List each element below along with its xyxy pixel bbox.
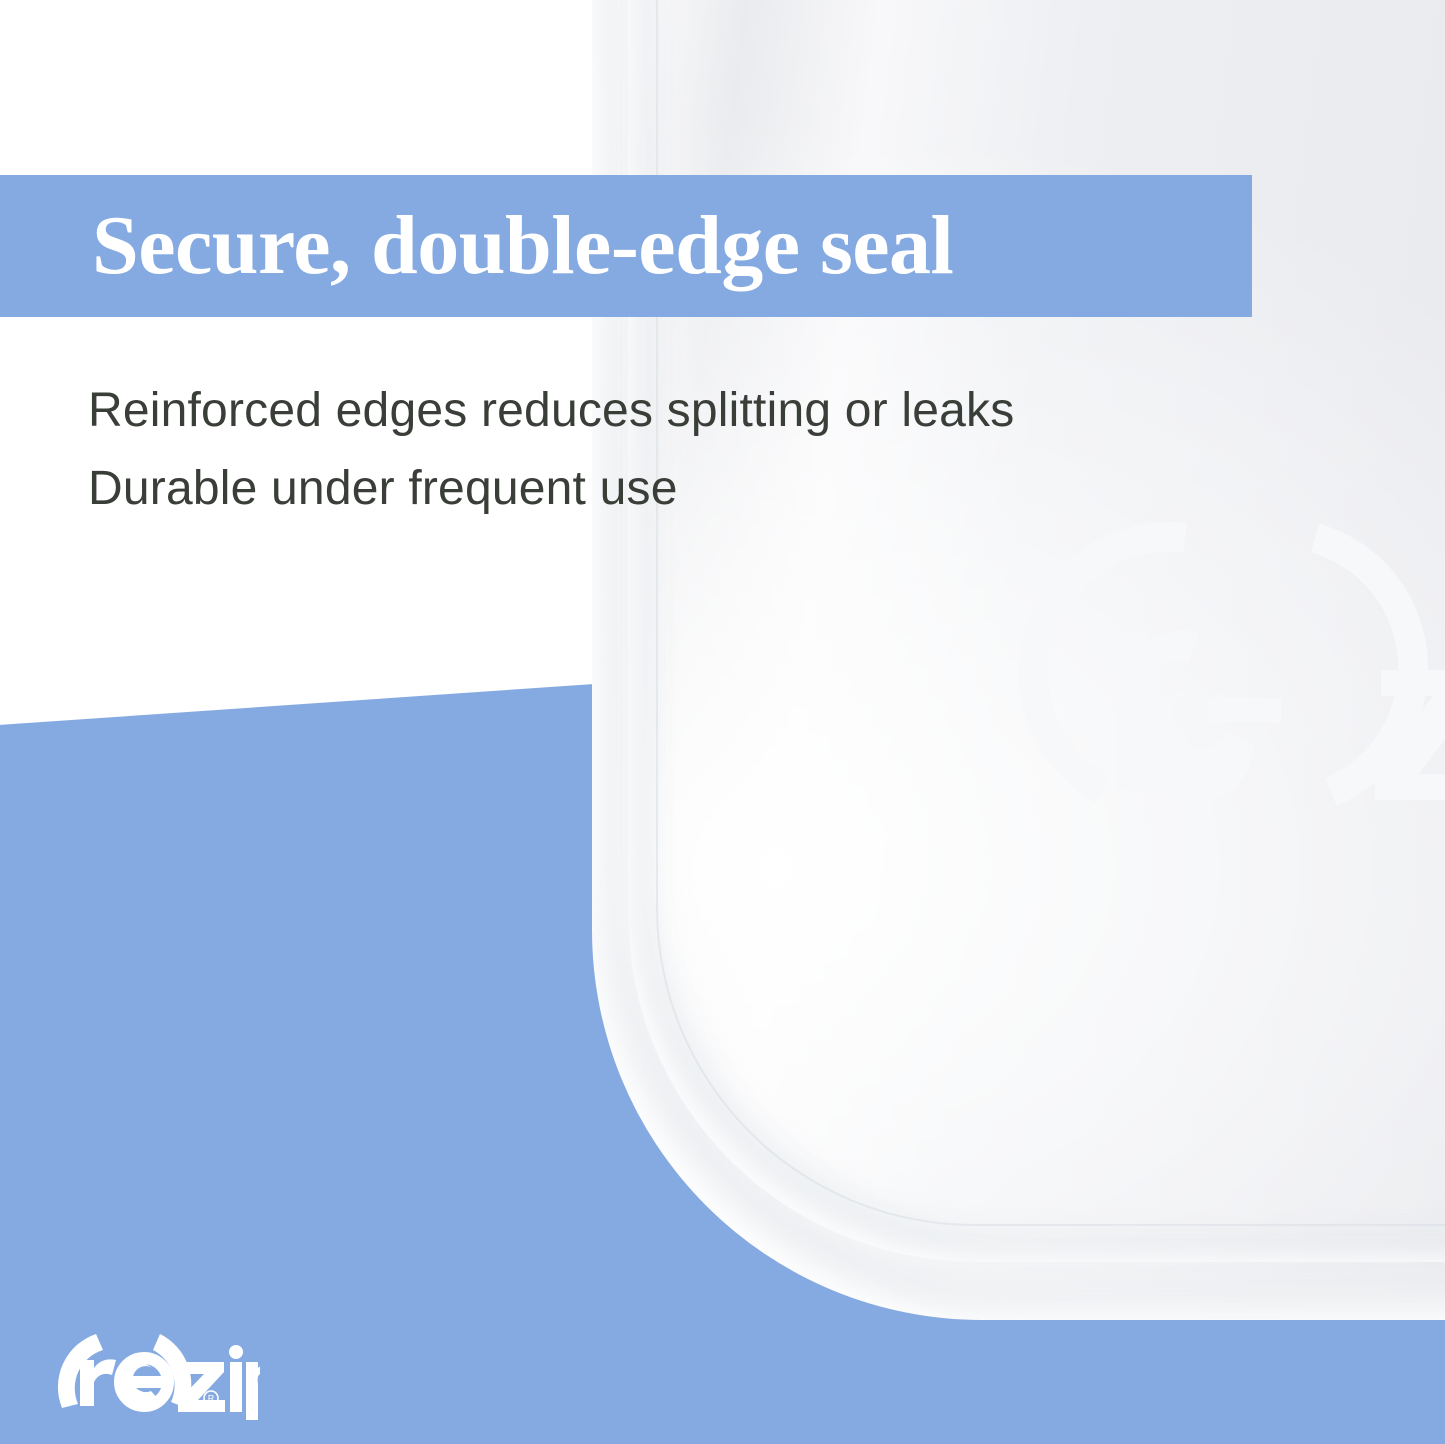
feature-bullet-list: Reinforced edges reduces splitting or le… <box>88 372 1188 528</box>
headline-band: Secure, double-edge seal <box>0 175 1252 317</box>
feature-bullet-2: Durable under frequent use <box>88 450 1188 528</box>
page-title: Secure, double-edge seal <box>92 204 953 288</box>
svg-text:R: R <box>208 1394 215 1404</box>
product-feature-graphic: Secure, double-edge seal Reinforced edge… <box>0 0 1445 1444</box>
rezip-logo: R <box>40 1330 260 1422</box>
feature-bullet-1: Reinforced edges reduces splitting or le… <box>88 372 1188 450</box>
